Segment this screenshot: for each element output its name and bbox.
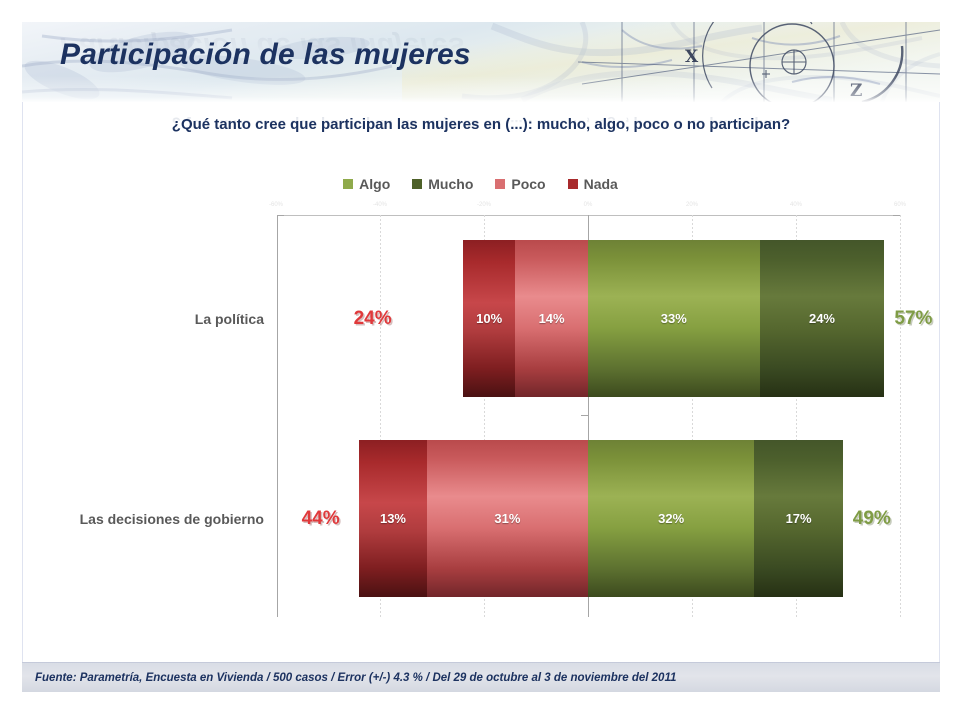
row-total-positive: 49% bbox=[853, 508, 891, 530]
bar-segment-algo[interactable]: 32% bbox=[588, 440, 754, 597]
row-total-negative: 24% bbox=[292, 308, 453, 330]
footer-band: Fuente: Parametría, Encuesta en Vivienda… bbox=[22, 662, 940, 692]
bar-segment-mucho[interactable]: 17% bbox=[754, 440, 842, 597]
legend-swatch-mucho-icon bbox=[412, 179, 422, 189]
bar-segment-nada[interactable]: 13% bbox=[359, 440, 427, 597]
header-banner: X Z Participación de las mujeres Partici… bbox=[22, 22, 940, 102]
bar-segment-value: 24% bbox=[809, 311, 835, 326]
bar-segment-value: 10% bbox=[476, 311, 502, 326]
chart-legend: AlgoMuchoPocoNada bbox=[0, 176, 961, 192]
bar-segment-value: 31% bbox=[494, 511, 520, 526]
legend-swatch-nada-icon bbox=[568, 179, 578, 189]
bar-segment-value: 14% bbox=[539, 311, 565, 326]
source-note: Fuente: Parametría, Encuesta en Vivienda… bbox=[22, 672, 676, 684]
bar-segment-algo[interactable]: 33% bbox=[588, 240, 760, 397]
bar-row: 13%31%32%17% bbox=[277, 440, 900, 597]
axis-tick-label: -60% bbox=[269, 202, 283, 208]
legend-label: Poco bbox=[511, 176, 545, 192]
axis-zero-tick bbox=[581, 415, 588, 416]
row-total-negative: 44% bbox=[292, 508, 349, 530]
banner-glyph-x: X bbox=[685, 47, 699, 67]
bar-segment-nada[interactable]: 10% bbox=[463, 240, 515, 397]
axis-tick-label: -40% bbox=[373, 202, 387, 208]
category-label: La política bbox=[40, 311, 264, 327]
axis-left-cap bbox=[277, 215, 284, 216]
legend-item-algo[interactable]: Algo bbox=[343, 176, 390, 192]
axis-tick-label: 60% bbox=[894, 202, 906, 208]
axis-tick-label: 0% bbox=[584, 202, 593, 208]
chart-question-wrap: ¿Qué tanto cree que participan las mujer… bbox=[22, 116, 940, 150]
axis-tick-label: -20% bbox=[477, 202, 491, 208]
page-title: Participación de las mujeres bbox=[60, 38, 471, 72]
legend-swatch-poco-icon bbox=[495, 179, 505, 189]
slide: X Z Participación de las mujeres Partici… bbox=[0, 0, 961, 721]
bar-segment-poco[interactable]: 14% bbox=[515, 240, 588, 397]
category-label: Las decisiones de gobierno bbox=[40, 511, 264, 527]
legend-label: Algo bbox=[359, 176, 390, 192]
chart-question-reflection: ¿Qué tanto cree que participan las mujer… bbox=[22, 116, 940, 133]
gridline bbox=[900, 215, 901, 617]
legend-swatch-algo-icon bbox=[343, 179, 353, 189]
legend-item-nada[interactable]: Nada bbox=[568, 176, 618, 192]
legend-item-poco[interactable]: Poco bbox=[495, 176, 545, 192]
chart-plot-area: -60%-40%-20%0%20%40%60% 10%14%33%24%13%3… bbox=[277, 215, 900, 617]
axis-tick-label: 20% bbox=[686, 202, 698, 208]
legend-item-mucho[interactable]: Mucho bbox=[412, 176, 473, 192]
legend-label: Mucho bbox=[428, 176, 473, 192]
axis-right-cap bbox=[893, 215, 900, 216]
bar-segment-value: 17% bbox=[786, 511, 812, 526]
bar-segment-value: 13% bbox=[380, 511, 406, 526]
axis-tick-label: 40% bbox=[790, 202, 802, 208]
bar-segment-value: 33% bbox=[661, 311, 687, 326]
row-total-positive: 57% bbox=[894, 308, 932, 330]
legend-label: Nada bbox=[584, 176, 618, 192]
bar-segment-poco[interactable]: 31% bbox=[427, 440, 588, 597]
bar-segment-value: 32% bbox=[658, 511, 684, 526]
bar-segment-mucho[interactable]: 24% bbox=[760, 240, 885, 397]
